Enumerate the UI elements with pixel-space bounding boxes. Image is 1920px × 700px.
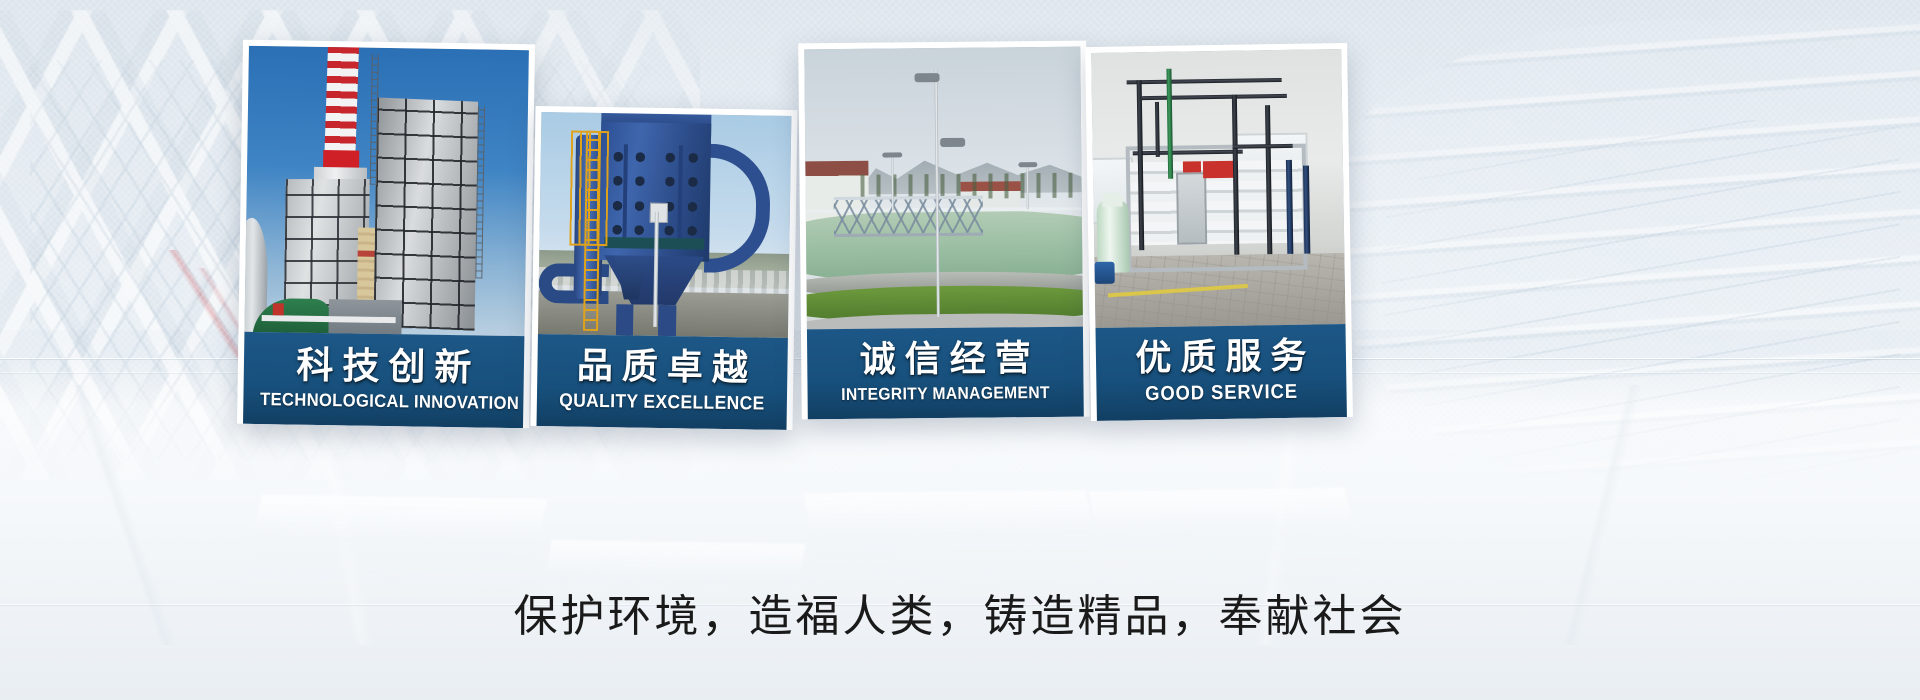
panel-2-title-cn: 品质卓越	[543, 346, 782, 390]
company-values-banner: 科技创新 TECHNOLOGICAL INNOVATION	[0, 0, 1920, 700]
panel-4-caption: 优质服务 GOOD SERVICE	[1095, 324, 1346, 421]
value-card-technological-innovation[interactable]: 科技创新 TECHNOLOGICAL INNOVATION	[237, 40, 535, 429]
blue-baghouse-dust-collector-photo	[538, 112, 791, 338]
panel-3-title-cn: 诚信经营	[813, 339, 1077, 382]
panel-1-title-cn: 科技创新	[250, 344, 519, 390]
value-card-good-service[interactable]: 优质服务 GOOD SERVICE	[1085, 43, 1353, 421]
wastewater-treatment-plant-photo	[804, 47, 1083, 330]
panel-3-caption: 诚信经营 INTEGRITY MANAGEMENT	[807, 327, 1084, 420]
banner-tagline: 保护环境，造福人类，铸造精品，奉献社会	[0, 580, 1920, 644]
panel-4-title-en: GOOD SERVICE	[1112, 381, 1331, 407]
panel-1-title-en: TECHNOLOGICAL INNOVATION	[260, 389, 507, 414]
industrial-chimney-stack-photo	[244, 46, 528, 336]
panel-1-caption: 科技创新 TECHNOLOGICAL INNOVATION	[243, 332, 524, 429]
panel-3-title-en: INTEGRITY MANAGEMENT	[824, 383, 1067, 405]
value-card-quality-excellence[interactable]: 品质卓越 QUALITY EXCELLENCE	[531, 106, 798, 430]
panel-4-title-cn: 优质服务	[1102, 336, 1341, 380]
panel-2-title-en: QUALITY EXCELLENCE	[552, 391, 771, 416]
value-card-integrity-management[interactable]: 诚信经营 INTEGRITY MANAGEMENT	[798, 41, 1090, 420]
panel-2-caption: 品质卓越 QUALITY EXCELLENCE	[536, 334, 787, 430]
reverse-osmosis-water-system-photo	[1091, 49, 1345, 328]
